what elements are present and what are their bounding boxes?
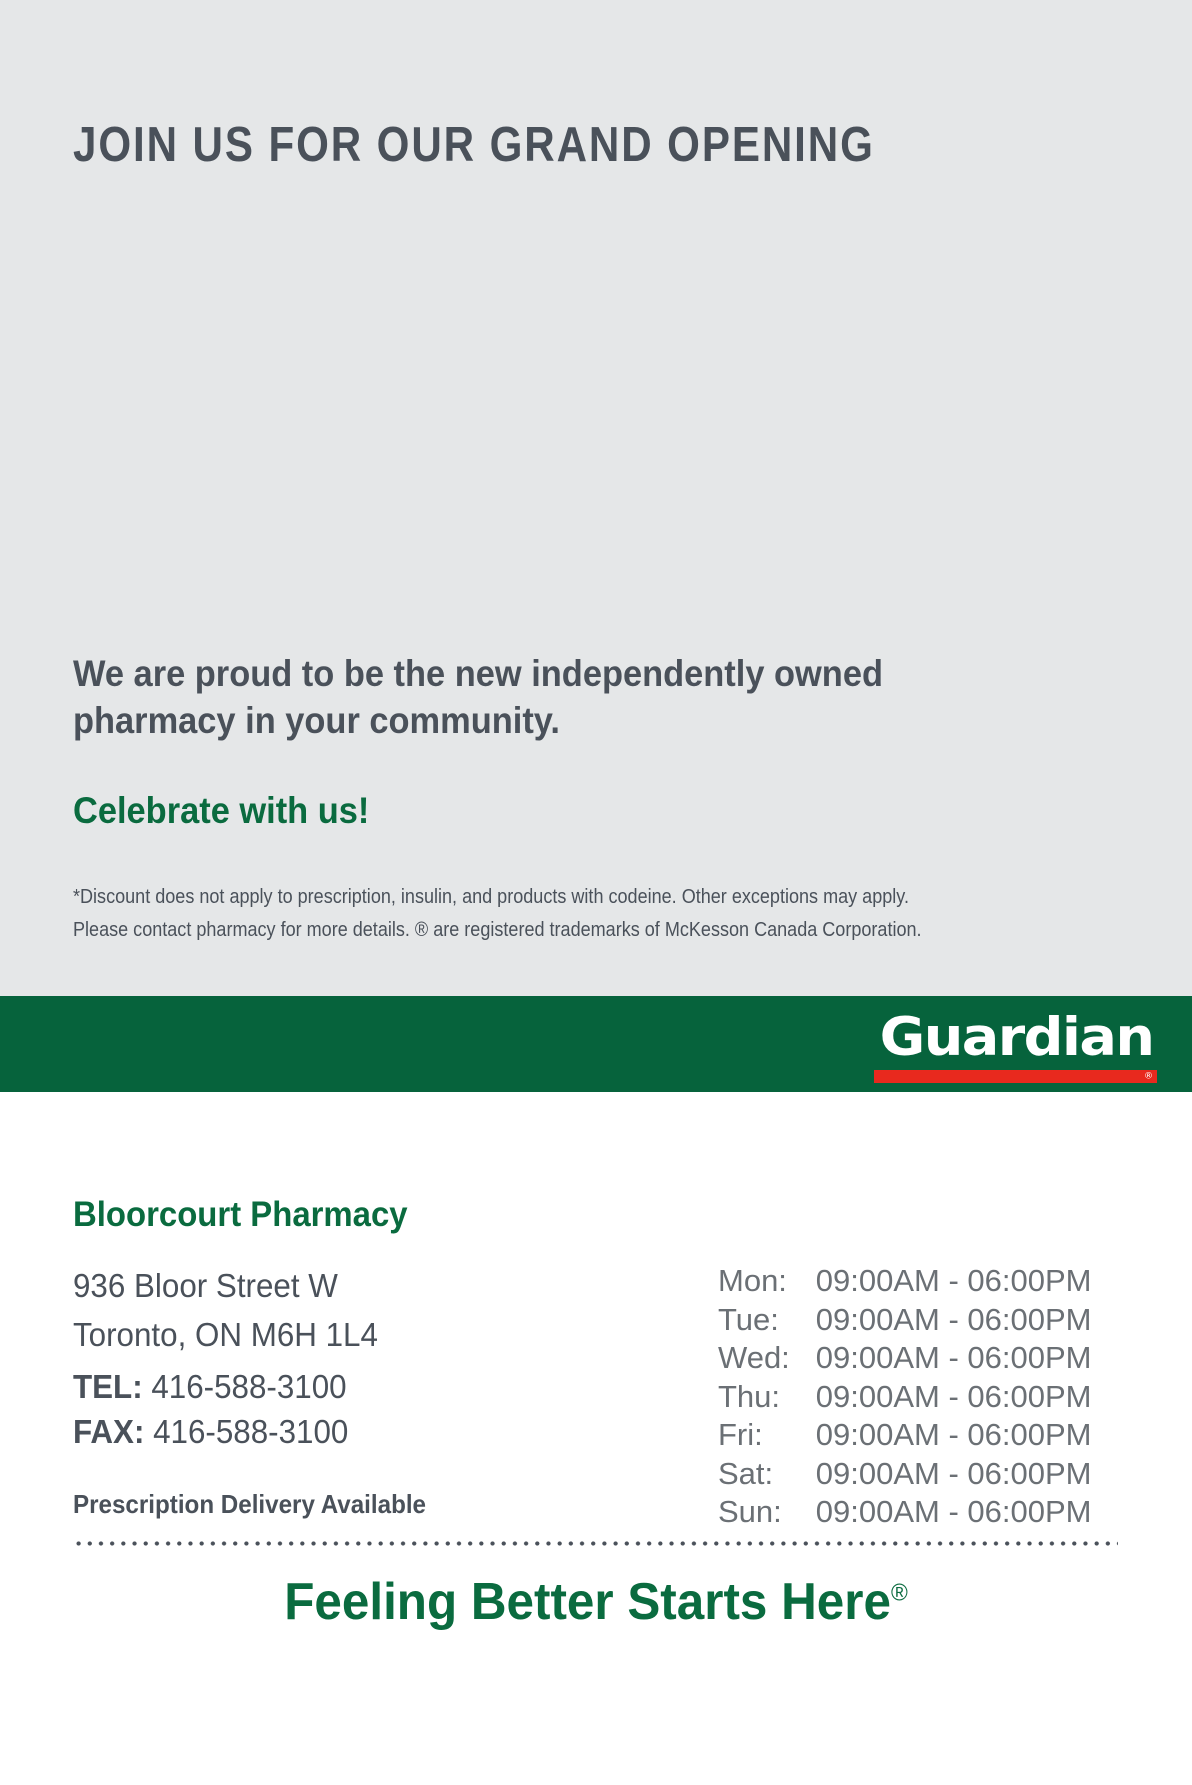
address-line-2: Toronto, ON M6H 1L4 bbox=[73, 1310, 378, 1359]
pharmacy-grand-opening-flyer: JOIN US FOR OUR GRAND OPENING We are pro… bbox=[0, 0, 1192, 1785]
guardian-logo: Guardian ® bbox=[874, 1009, 1159, 1083]
hours-time-mon: 09:00AM - 06:00PM bbox=[816, 1262, 1092, 1301]
promo-statement: We are proud to be the new independently… bbox=[73, 650, 1003, 744]
dotted-divider bbox=[73, 1540, 1118, 1547]
hours-time-fri: 09:00AM - 06:00PM bbox=[816, 1416, 1092, 1455]
offer-image-placeholder bbox=[0, 200, 1192, 630]
table-row: Tue: 09:00AM - 06:00PM bbox=[718, 1301, 1092, 1340]
hours-time-thu: 09:00AM - 06:00PM bbox=[816, 1378, 1092, 1417]
disclaimer-text: *Discount does not apply to prescription… bbox=[73, 880, 993, 946]
hours-day-fri: Fri: bbox=[718, 1416, 816, 1455]
promo-panel: JOIN US FOR OUR GRAND OPENING We are pro… bbox=[0, 0, 1192, 996]
promo-statement-line-1: We are proud to be the new independently… bbox=[73, 653, 883, 694]
telephone-row: TEL: 416-588-3100 bbox=[73, 1364, 348, 1409]
store-contact: TEL: 416-588-3100 FAX: 416-588-3100 bbox=[73, 1364, 348, 1454]
table-row: Mon: 09:00AM - 06:00PM bbox=[718, 1262, 1092, 1301]
fax-value[interactable]: 416-588-3100 bbox=[153, 1413, 348, 1450]
celebrate-callout: Celebrate with us! bbox=[73, 790, 369, 832]
hours-day-wed: Wed: bbox=[718, 1339, 816, 1378]
pharmacy-name: Bloorcourt Pharmacy bbox=[73, 1195, 408, 1235]
hours-day-mon: Mon: bbox=[718, 1262, 816, 1301]
address-line-1: 936 Bloor Street W bbox=[73, 1261, 378, 1310]
telephone-label: TEL: bbox=[73, 1368, 143, 1405]
brand-band: Guardian ® bbox=[0, 996, 1192, 1092]
hours-day-sat: Sat: bbox=[718, 1455, 816, 1494]
disclaimer-line-2: Please contact pharmacy for more details… bbox=[73, 913, 993, 946]
tagline-registered-icon: ® bbox=[891, 1580, 908, 1607]
fax-label: FAX: bbox=[73, 1413, 144, 1450]
table-row: Thu: 09:00AM - 06:00PM bbox=[718, 1378, 1092, 1417]
hours-time-sun: 09:00AM - 06:00PM bbox=[816, 1493, 1092, 1532]
fax-row: FAX: 416-588-3100 bbox=[73, 1409, 348, 1454]
page-title: JOIN US FOR OUR GRAND OPENING bbox=[73, 117, 875, 173]
guardian-logo-red-bar: ® bbox=[874, 1070, 1157, 1083]
hours-time-wed: 09:00AM - 06:00PM bbox=[816, 1339, 1092, 1378]
table-row: Fri: 09:00AM - 06:00PM bbox=[718, 1416, 1092, 1455]
hours-day-sun: Sun: bbox=[718, 1493, 816, 1532]
table-row: Wed: 09:00AM - 06:00PM bbox=[718, 1339, 1092, 1378]
hours-time-tue: 09:00AM - 06:00PM bbox=[816, 1301, 1092, 1340]
hours-day-thu: Thu: bbox=[718, 1378, 816, 1417]
brand-tagline-text: Feeling Better Starts Here bbox=[284, 1573, 891, 1631]
store-info-section: Bloorcourt Pharmacy 936 Bloor Street W T… bbox=[0, 1092, 1192, 1785]
hours-day-tue: Tue: bbox=[718, 1301, 816, 1340]
disclaimer-line-1: *Discount does not apply to prescription… bbox=[73, 880, 993, 913]
promo-statement-line-2: pharmacy in your community. bbox=[73, 700, 560, 741]
hours-time-sat: 09:00AM - 06:00PM bbox=[816, 1455, 1092, 1494]
delivery-availability-note: Prescription Delivery Available bbox=[73, 1489, 426, 1520]
store-address: 936 Bloor Street W Toronto, ON M6H 1L4 bbox=[73, 1261, 378, 1359]
table-row: Sun: 09:00AM - 06:00PM bbox=[718, 1493, 1092, 1532]
store-hours-table: Mon: 09:00AM - 06:00PM Tue: 09:00AM - 06… bbox=[718, 1262, 1092, 1532]
registered-trademark-icon: ® bbox=[1144, 1072, 1153, 1081]
brand-tagline: Feeling Better Starts Here® bbox=[30, 1572, 1162, 1632]
guardian-logo-wordmark: Guardian bbox=[867, 1009, 1166, 1067]
table-row: Sat: 09:00AM - 06:00PM bbox=[718, 1455, 1092, 1494]
telephone-value[interactable]: 416-588-3100 bbox=[151, 1368, 346, 1405]
